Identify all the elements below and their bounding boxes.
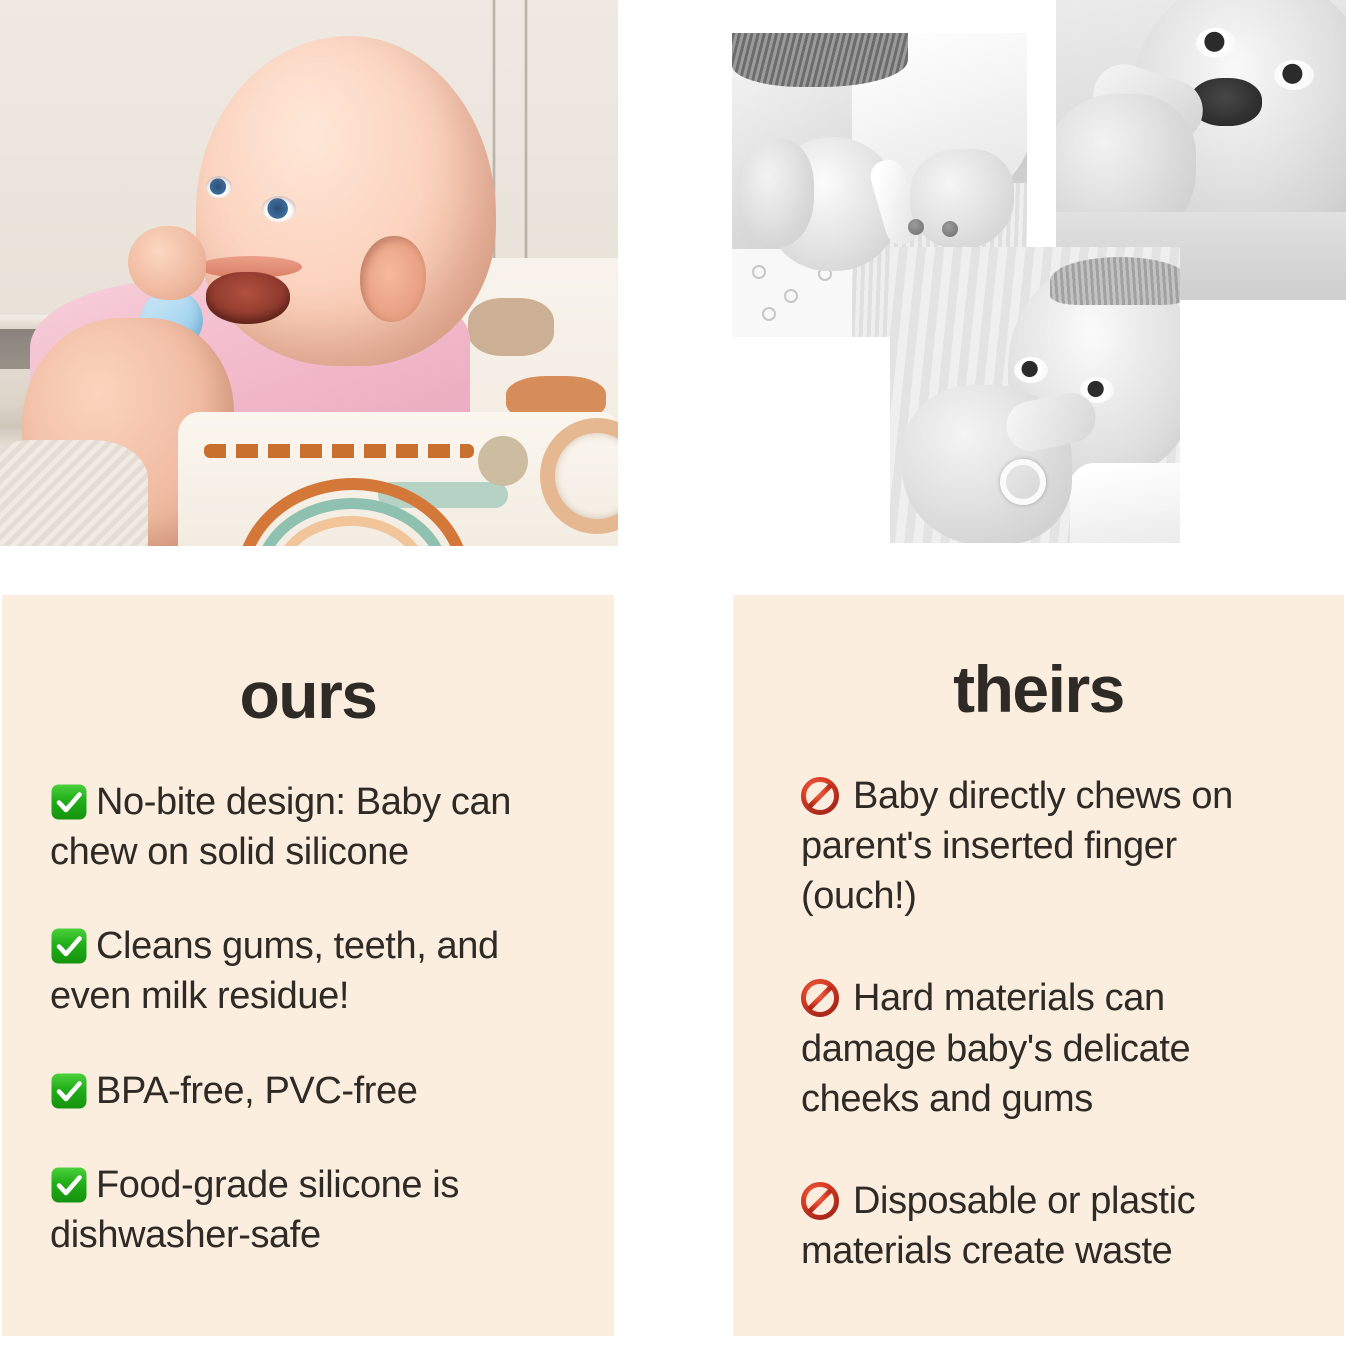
collage-photos — [0, 0, 1346, 570]
bottom-margin — [0, 1336, 1346, 1345]
ours-feature-list: No-bite design: Baby can chew on solid s… — [2, 733, 614, 1260]
media-band — [0, 0, 1346, 570]
white-check-mark-icon — [50, 783, 88, 821]
list-item: BPA-free, PVC-free — [50, 1066, 574, 1116]
list-item-text: BPA-free, PVC-free — [96, 1070, 418, 1112]
list-item: Baby directly chews on parent's inserted… — [801, 771, 1298, 921]
panel-ours-heading: ours — [2, 595, 614, 733]
list-item-text: Disposable or plastic materials create w… — [801, 1180, 1195, 1272]
list-item: Hard materials can damage baby's delicat… — [801, 973, 1298, 1123]
prohibited-icon — [801, 979, 839, 1017]
list-item: Cleans gums, teeth, and even milk residu… — [50, 921, 574, 1021]
list-item: No-bite design: Baby can chew on solid s… — [50, 777, 574, 877]
prohibited-icon — [801, 1182, 839, 1220]
collage-photo-3 — [890, 247, 1180, 543]
white-check-mark-icon — [50, 1072, 88, 1110]
panel-ours: ours No-bite de — [2, 595, 614, 1345]
list-item: Disposable or plastic materials create w… — [801, 1176, 1298, 1276]
prohibited-icon — [801, 777, 839, 815]
list-item-text: Cleans gums, teeth, and even milk residu… — [50, 925, 499, 1017]
white-check-mark-icon — [50, 1166, 88, 1204]
list-item-text: No-bite design: Baby can chew on solid s… — [50, 781, 511, 873]
list-item-text: Hard materials can damage baby's delicat… — [801, 977, 1190, 1119]
list-item-text: Food-grade silicone is dishwasher-safe — [50, 1164, 459, 1256]
panel-theirs: theirs Baby dir — [733, 595, 1344, 1345]
list-item-text: Baby directly chews on parent's inserted… — [801, 775, 1233, 917]
theirs-feature-list: Baby directly chews on parent's inserted… — [733, 727, 1344, 1276]
white-check-mark-icon — [50, 927, 88, 965]
panel-theirs-heading: theirs — [733, 595, 1344, 727]
list-item: Food-grade silicone is dishwasher-safe — [50, 1160, 574, 1260]
comparison-section: ours No-bite de — [0, 595, 1346, 1345]
